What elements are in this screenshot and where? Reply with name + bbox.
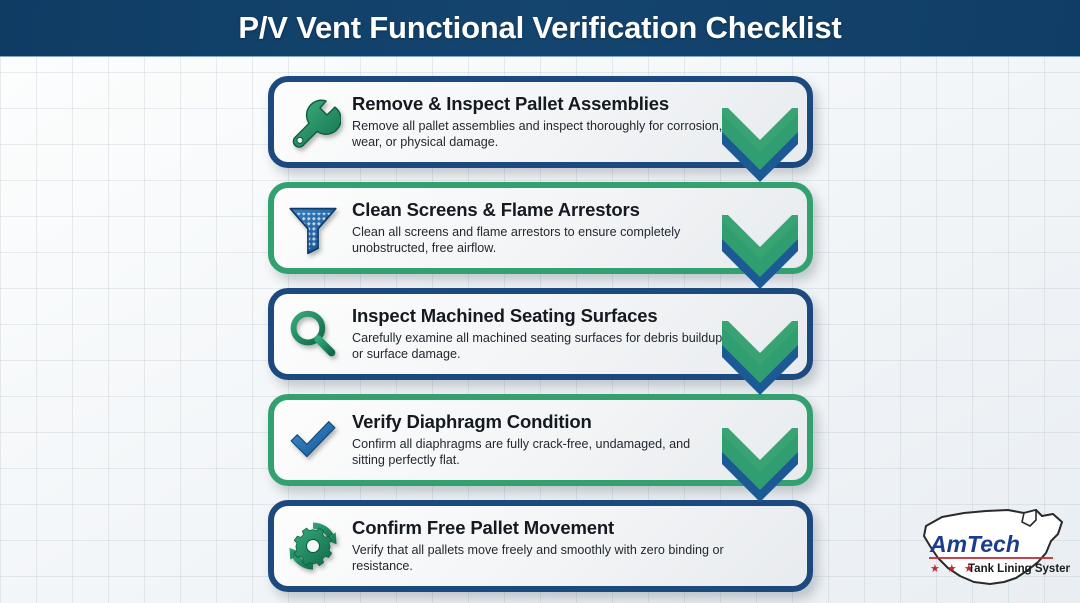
page-title: P/V Vent Functional Verification Checkli… [238, 10, 841, 46]
card-text-block: Clean Screens & Flame Arrestors Clean al… [352, 199, 738, 256]
checklist-card-5[interactable]: Confirm Free Pallet Movement Verify that… [268, 500, 813, 592]
page-header: P/V Vent Functional Verification Checkli… [0, 0, 1080, 57]
logo-tagline: Tank Lining Systems [968, 563, 1070, 575]
funnel-screen-icon [274, 189, 352, 267]
card-text-block: Confirm Free Pallet Movement Verify that… [352, 517, 738, 574]
card-description: Confirm all diaphragms are fully crack-f… [352, 436, 724, 469]
card-title: Verify Diaphragm Condition [352, 411, 724, 432]
amtech-logo: AmTech ★ ★ ★ Tank Lining Systems [912, 500, 1070, 596]
card-title: Remove & Inspect Pallet Assemblies [352, 93, 724, 114]
card-description: Verify that all pallets move freely and … [352, 542, 724, 575]
connector-arrow-3 [714, 321, 806, 403]
wrench-icon [274, 83, 352, 161]
checkmark-icon [274, 401, 352, 479]
card-text-block: Inspect Machined Seating Surfaces Carefu… [352, 305, 738, 362]
gear-refresh-icon [274, 507, 352, 585]
card-description: Carefully examine all machined seating s… [352, 330, 724, 363]
card-title: Clean Screens & Flame Arrestors [352, 199, 724, 220]
card-title: Inspect Machined Seating Surfaces [352, 305, 724, 326]
card-description: Clean all screens and flame arrestors to… [352, 224, 724, 257]
card-description: Remove all pallet assemblies and inspect… [352, 118, 724, 151]
card-title: Confirm Free Pallet Movement [352, 517, 724, 538]
magnifier-icon [274, 295, 352, 373]
card-text-block: Remove & Inspect Pallet Assemblies Remov… [352, 93, 738, 150]
connector-arrow-4 [714, 428, 806, 510]
connector-arrow-2 [714, 215, 806, 297]
infographic-page: P/V Vent Functional Verification Checkli… [0, 0, 1080, 603]
connector-arrow-1 [714, 108, 806, 190]
logo-brand-text: AmTech [929, 531, 1020, 557]
card-text-block: Verify Diaphragm Condition Confirm all d… [352, 411, 738, 468]
